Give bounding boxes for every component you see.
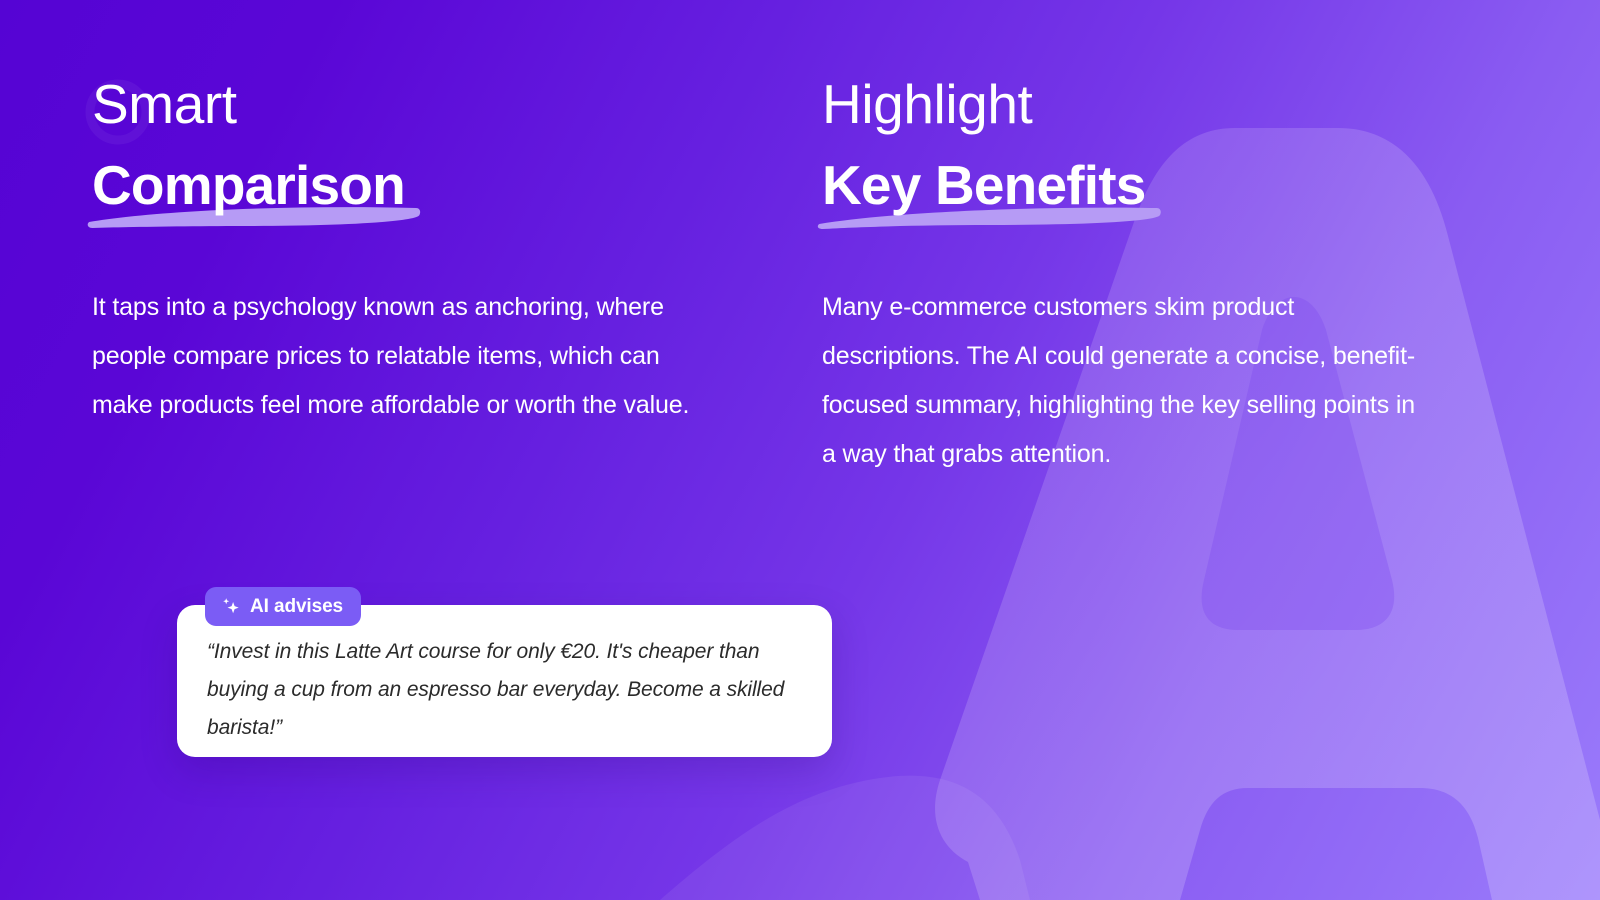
ai-advises-badge[interactable]: AI advises [205, 587, 361, 626]
page-title: Comparison [92, 156, 405, 215]
headline-group: Comparison [92, 156, 405, 215]
ai-advises-badge-label: AI advises [250, 597, 343, 616]
slide-canvas: Smart Comparison It taps into a psycholo… [0, 0, 1600, 900]
headline-group: Key Benefits [822, 156, 1146, 215]
body-paragraph: Many e-commerce customers skim product d… [822, 283, 1422, 479]
body-paragraph: It taps into a psychology known as ancho… [92, 283, 712, 430]
sparkle-icon [220, 596, 241, 617]
content-columns: Smart Comparison It taps into a psycholo… [0, 0, 1600, 900]
eyebrow-heading: Smart [92, 76, 237, 134]
ai-advice-card-text: “Invest in this Latte Art course for onl… [207, 633, 802, 747]
eyebrow-heading: Highlight [822, 76, 1032, 134]
column-smart-comparison: Smart Comparison It taps into a psycholo… [92, 0, 772, 900]
column-highlight-key-benefits: Highlight Key Benefits Many e-commerce c… [822, 0, 1522, 900]
ai-advice-card: “Invest in this Latte Art course for onl… [177, 605, 832, 757]
page-title: Key Benefits [822, 156, 1146, 215]
